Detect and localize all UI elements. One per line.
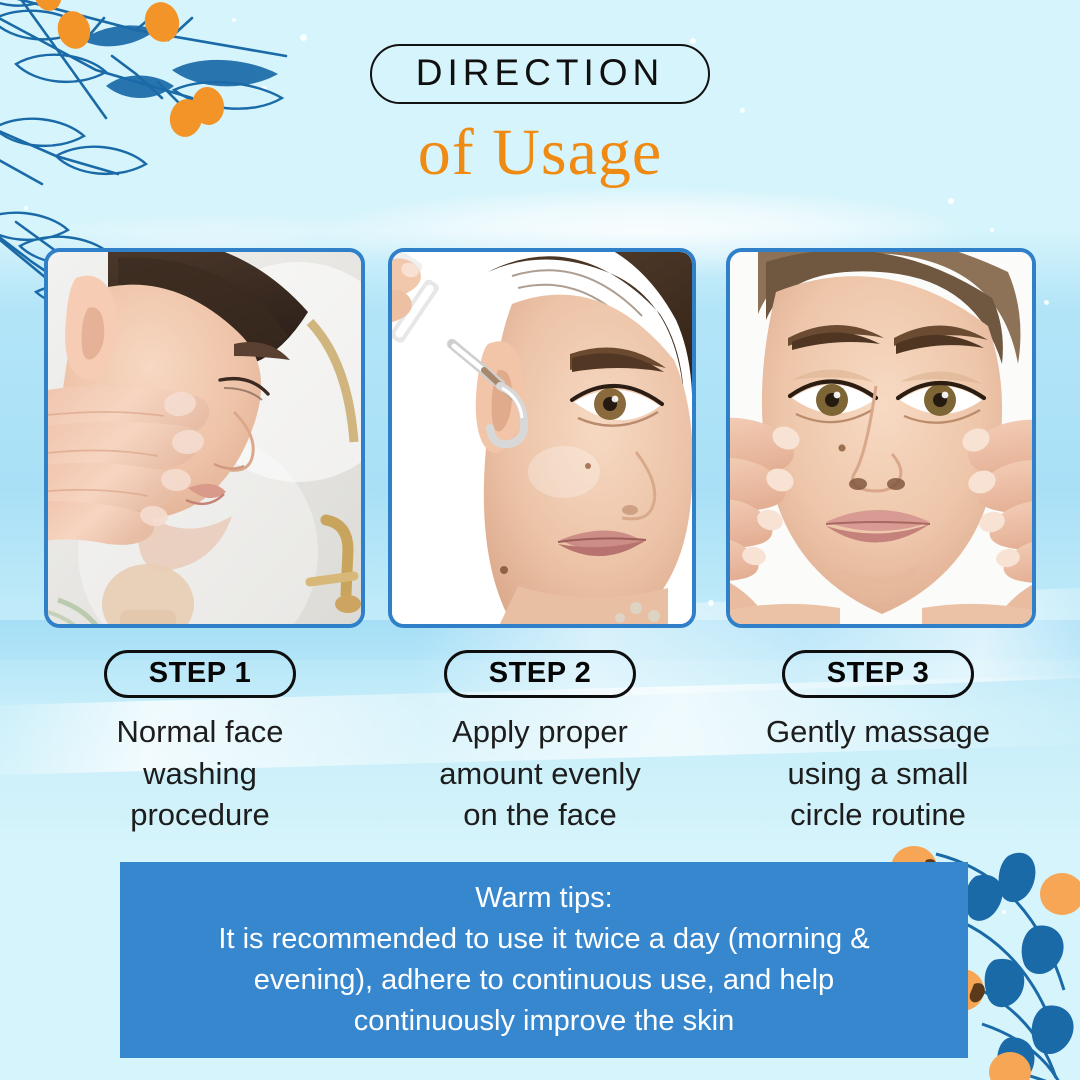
warm-tips-banner: Warm tips: It is recommended to use it t… [120, 862, 968, 1058]
sparkle-dot [990, 228, 994, 232]
step-photo-card-3 [726, 248, 1036, 628]
sparkle-dot [1044, 300, 1049, 305]
sparkle-dot [232, 18, 236, 22]
sparkle-dot [24, 206, 28, 210]
sparkle-dot [948, 198, 954, 204]
step-block-2: STEP 2 Apply proper amount evenly on the… [380, 650, 700, 835]
step-caption-2: Apply proper amount evenly on the face [380, 711, 700, 835]
poster-header: DIRECTION of Usage [0, 44, 1080, 186]
step-badge-2: STEP 2 [444, 650, 636, 698]
step-caption-3: Gently massage using a small circle rout… [718, 711, 1038, 835]
step-block-3: STEP 3 Gently massage using a small circ… [718, 650, 1038, 835]
step-badge-1: STEP 1 [104, 650, 296, 698]
sparkle-dot [300, 34, 307, 41]
step-block-1: STEP 1 Normal face washing procedure [40, 650, 360, 835]
photo-face-washing [48, 252, 361, 624]
page-title: of Usage [0, 120, 1080, 186]
poster-canvas: DIRECTION of Usage [0, 0, 1080, 1080]
warm-tips-text: Warm tips: It is recommended to use it t… [218, 878, 869, 1043]
step-caption-1: Normal face washing procedure [40, 711, 360, 835]
sparkle-dot [1002, 910, 1006, 914]
step-badge-3: STEP 3 [782, 650, 974, 698]
direction-eyebrow-badge: DIRECTION [370, 44, 711, 104]
sparkle-dot [708, 600, 714, 606]
step-photo-card-1 [44, 248, 365, 628]
photo-serum-dropper [392, 252, 692, 624]
photo-face-massage [730, 252, 1032, 624]
step-photo-card-2 [388, 248, 696, 628]
